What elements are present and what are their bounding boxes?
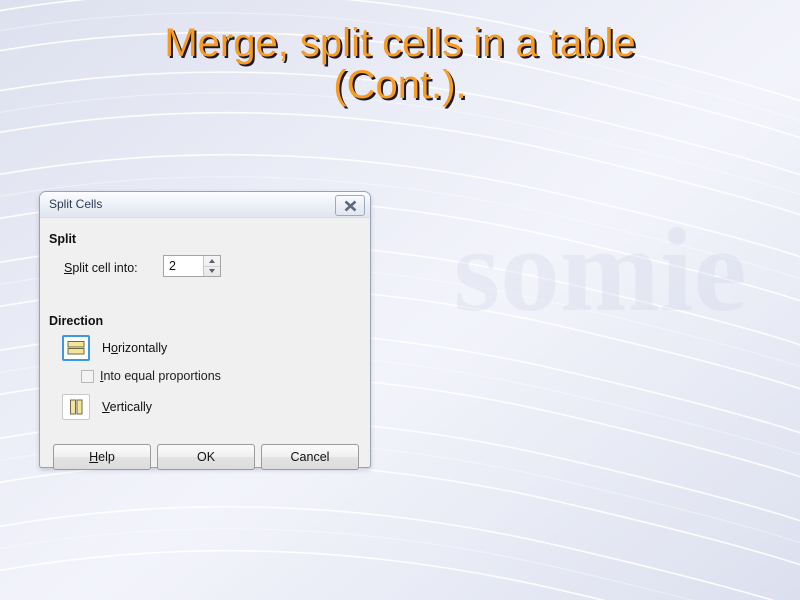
stepper-up-button[interactable]	[204, 256, 220, 267]
dialog-button-row: Help OK Cancel	[53, 444, 359, 470]
checkbox-box-icon	[81, 370, 94, 383]
stepper-buttons	[203, 256, 220, 276]
split-cell-into-label: Split cell into:	[64, 261, 138, 275]
dialog-title-bar[interactable]: Split Cells	[40, 192, 370, 218]
stepper-down-button[interactable]	[204, 267, 220, 277]
direction-horizontally-button[interactable]	[62, 335, 90, 361]
dialog-body: Split Split cell into: 2 Direction	[40, 218, 370, 467]
direction-vertically-button[interactable]	[62, 394, 90, 420]
split-cell-into-stepper[interactable]: 2	[163, 255, 221, 277]
split-horizontal-icon	[67, 340, 85, 356]
split-cells-dialog: Split Cells Split Split cell into: 2	[39, 191, 371, 468]
direction-horizontally-label: Horizontally	[102, 341, 167, 355]
caret-down-icon	[209, 269, 215, 273]
split-cell-into-input[interactable]: 2	[164, 256, 203, 276]
cancel-button[interactable]: Cancel	[261, 444, 359, 470]
slide-canvas: somie Merge, split cells in a table (Con…	[0, 0, 800, 600]
help-button[interactable]: Help	[53, 444, 151, 470]
svg-text:somie: somie	[453, 203, 746, 336]
dialog-title: Split Cells	[49, 197, 102, 211]
page-title-line-2: (Cont.).	[40, 64, 760, 106]
into-equal-proportions-checkbox[interactable]: Into equal proportions	[81, 369, 221, 383]
page-title-line-1: Merge, split cells in a table	[40, 22, 760, 64]
into-equal-proportions-label: Into equal proportions	[100, 369, 221, 383]
ok-button[interactable]: OK	[157, 444, 255, 470]
direction-vertically-label: Vertically	[102, 400, 152, 414]
split-vertical-icon	[67, 399, 85, 415]
direction-section-heading: Direction	[49, 314, 103, 328]
close-button[interactable]	[335, 195, 365, 216]
background-watermark: somie	[400, 200, 800, 400]
split-section-heading: Split	[49, 232, 76, 246]
caret-up-icon	[209, 259, 215, 263]
close-x-icon	[344, 200, 357, 212]
page-title: Merge, split cells in a table (Cont.).	[40, 22, 760, 107]
